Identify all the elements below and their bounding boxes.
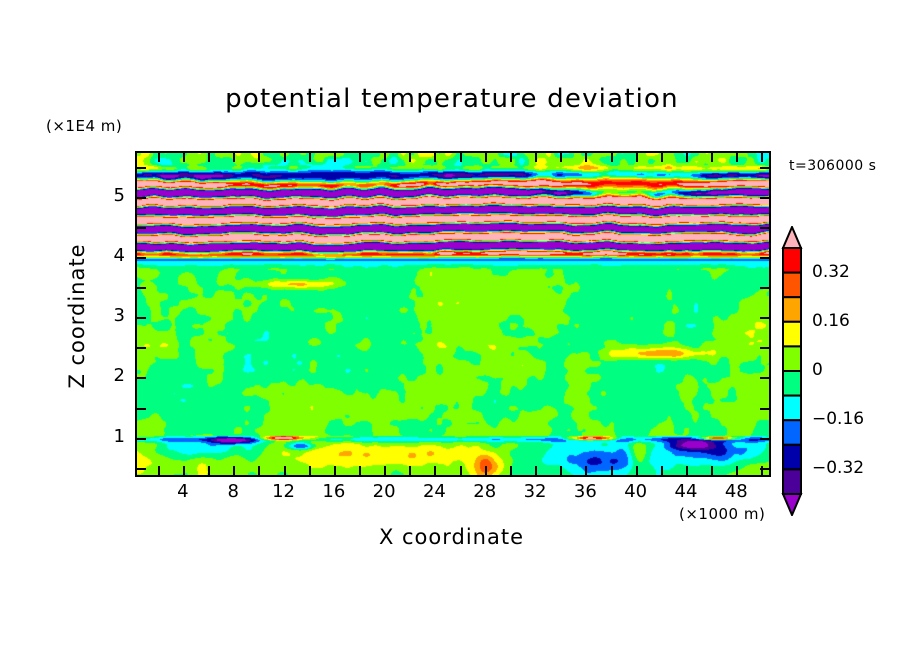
colorbar-segment <box>783 445 801 470</box>
y-axis-title: Z coordinate <box>65 226 89 406</box>
x-tick-mark <box>334 466 336 475</box>
x-tick-label: 44 <box>666 481 706 502</box>
y-tick-mark <box>137 317 146 319</box>
x-tick-label: 24 <box>414 481 454 502</box>
x-tick-mark <box>384 153 386 162</box>
x-tick-mark <box>309 153 311 162</box>
y-tick-mark <box>760 377 769 379</box>
x-tick-label: 12 <box>264 481 304 502</box>
y-tick-mark <box>137 287 146 289</box>
colorbar-cap-low <box>783 494 801 515</box>
y-tick-mark <box>137 468 146 470</box>
x-tick-mark <box>510 153 512 162</box>
x-tick-mark <box>334 153 336 162</box>
x-tick-mark <box>460 153 462 162</box>
x-tick-mark <box>183 466 185 475</box>
x-tick-mark <box>208 466 210 475</box>
y-tick-label: 4 <box>85 245 125 266</box>
y-tick-mark <box>137 227 146 229</box>
x-tick-mark <box>485 466 487 475</box>
x-tick-label: 48 <box>716 481 756 502</box>
x-tick-mark <box>611 153 613 162</box>
x-tick-mark <box>636 466 638 475</box>
x-tick-mark <box>686 466 688 475</box>
x-tick-label: 16 <box>314 481 354 502</box>
x-tick-mark <box>258 466 260 475</box>
y-tick-mark <box>760 317 769 319</box>
x-tick-mark <box>208 153 210 162</box>
time-annotation: t=306000 s <box>789 158 876 174</box>
colorbar-swatches <box>780 226 816 516</box>
colorbar-segment <box>783 396 801 421</box>
x-tick-mark <box>460 466 462 475</box>
x-tick-mark <box>510 466 512 475</box>
colorbar-segment <box>783 273 801 298</box>
x-tick-mark <box>284 153 286 162</box>
x-tick-mark <box>284 466 286 475</box>
colorbar-segment <box>783 248 801 273</box>
page-title: potential temperature deviation <box>0 84 904 114</box>
y-tick-mark <box>137 347 146 349</box>
x-axis-title: X coordinate <box>135 525 768 549</box>
x-tick-mark <box>384 466 386 475</box>
colorbar-tick-label: −0.32 <box>812 458 864 478</box>
x-tick-mark <box>736 466 738 475</box>
y-tick-mark <box>137 197 146 199</box>
x-tick-mark <box>409 153 411 162</box>
contour-field-canvas <box>137 153 769 475</box>
y-tick-mark <box>137 257 146 259</box>
x-tick-mark <box>585 466 587 475</box>
y-tick-mark <box>137 438 146 440</box>
y-tick-mark <box>760 257 769 259</box>
colorbar: 0.320.160−0.16−0.32 <box>780 226 816 516</box>
x-tick-mark <box>258 153 260 162</box>
y-tick-mark <box>137 167 146 169</box>
x-tick-label: 28 <box>465 481 505 502</box>
colorbar-tick-label: 0 <box>812 360 823 380</box>
colorbar-segment <box>783 469 801 494</box>
x-tick-label: 32 <box>515 481 555 502</box>
y-tick-mark <box>137 408 146 410</box>
x-tick-mark <box>434 153 436 162</box>
y-tick-label: 2 <box>85 365 125 386</box>
x-tick-mark <box>485 153 487 162</box>
colorbar-segment <box>783 371 801 396</box>
x-tick-mark <box>736 153 738 162</box>
y-tick-mark <box>760 287 769 289</box>
colorbar-segment <box>783 297 801 322</box>
x-tick-label: 36 <box>565 481 605 502</box>
y-tick-mark <box>760 468 769 470</box>
y-tick-mark <box>760 408 769 410</box>
x-tick-mark <box>309 466 311 475</box>
x-tick-label: 20 <box>364 481 404 502</box>
x-tick-mark <box>686 153 688 162</box>
x-tick-mark <box>560 466 562 475</box>
x-tick-mark <box>636 153 638 162</box>
x-tick-mark <box>761 153 763 162</box>
y-tick-mark <box>760 438 769 440</box>
colorbar-tick-label: 0.32 <box>812 262 850 282</box>
x-axis-unit-label: (×1000 m) <box>679 505 765 523</box>
x-tick-mark <box>359 153 361 162</box>
x-tick-mark <box>560 153 562 162</box>
colorbar-tick-label: −0.16 <box>812 409 864 429</box>
x-tick-mark <box>611 466 613 475</box>
plot-area <box>135 151 771 477</box>
x-tick-mark <box>158 466 160 475</box>
x-tick-mark <box>158 153 160 162</box>
colorbar-segment <box>783 420 801 445</box>
x-tick-label: 4 <box>163 481 203 502</box>
x-tick-label: 8 <box>213 481 253 502</box>
colorbar-tick-label: 0.16 <box>812 311 850 331</box>
colorbar-cap-high <box>783 227 801 248</box>
x-tick-label: 40 <box>616 481 656 502</box>
contour-plot-figure: potential temperature deviation (×1E4 m)… <box>0 0 904 654</box>
y-tick-mark <box>137 377 146 379</box>
x-tick-mark <box>233 153 235 162</box>
x-tick-mark <box>535 153 537 162</box>
x-tick-mark <box>711 466 713 475</box>
y-tick-label: 5 <box>85 185 125 206</box>
colorbar-segment <box>783 322 801 347</box>
y-tick-mark <box>760 197 769 199</box>
x-tick-mark <box>409 466 411 475</box>
x-tick-mark <box>359 466 361 475</box>
x-tick-mark <box>711 153 713 162</box>
colorbar-segment <box>783 346 801 371</box>
x-tick-mark <box>535 466 537 475</box>
x-tick-mark <box>661 466 663 475</box>
x-tick-mark <box>183 153 185 162</box>
y-tick-mark <box>760 167 769 169</box>
y-tick-mark <box>760 227 769 229</box>
y-tick-label: 1 <box>85 426 125 447</box>
y-axis-unit-label: (×1E4 m) <box>46 117 122 135</box>
x-tick-mark <box>233 466 235 475</box>
x-tick-mark <box>434 466 436 475</box>
y-tick-label: 3 <box>85 305 125 326</box>
y-tick-mark <box>760 347 769 349</box>
x-tick-mark <box>585 153 587 162</box>
x-tick-mark <box>661 153 663 162</box>
